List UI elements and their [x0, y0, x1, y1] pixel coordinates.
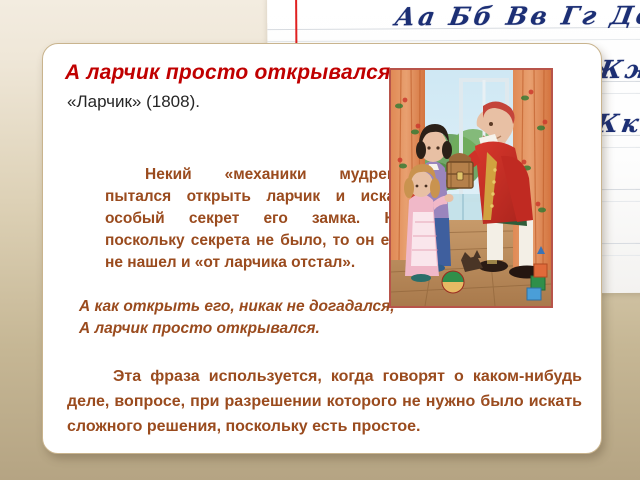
- usage-paragraph: Эта фраза используется, когда говорят о …: [67, 364, 582, 439]
- illustration-artwork: [391, 70, 551, 306]
- fable-illustration-image: [389, 68, 553, 308]
- fable-source-label: «Ларчик» (1808).: [67, 92, 200, 112]
- calligraphy-row-1: Аа Бб Вв Гг Дд Ее: [393, 0, 640, 31]
- slide-canvas: Аа Бб Вв Гг Дд Ее Жж Кк А ларчик просто …: [0, 0, 640, 480]
- page-title: А ларчик просто открывался: [65, 61, 391, 85]
- rule-line: [267, 39, 640, 42]
- explanation-paragraph: Некий «механики мудрец» пытался открыть …: [105, 164, 405, 274]
